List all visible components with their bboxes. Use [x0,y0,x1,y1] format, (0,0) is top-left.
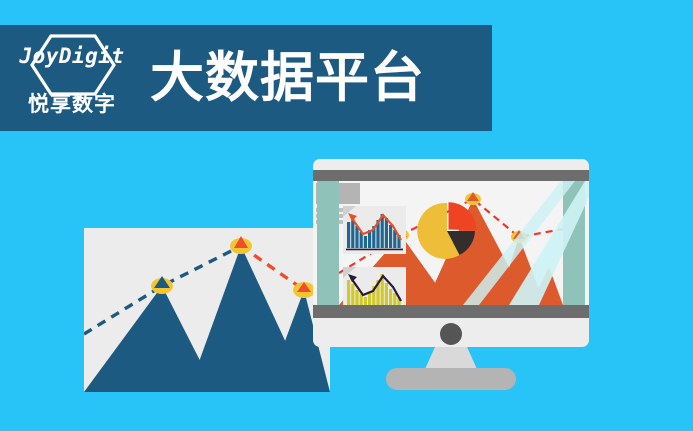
screen-side-band-right [563,181,585,305]
monitor-bottom-bezel [313,305,589,318]
desktop-monitor [313,159,589,347]
pie-chart [417,201,477,261]
blue-bar-chart-card [343,206,406,254]
brand-logo: JoyDigit 悦享数字 [12,32,132,124]
monitor-screen [313,181,589,305]
screen-side-band-left [317,181,339,305]
logo-subtitle: 悦享数字 [12,94,132,115]
page-title: 大数据平台 [150,51,425,105]
olive-bar-chart [343,267,406,305]
monitor-top-bezel [313,170,589,181]
trend-arrow-head [348,213,357,221]
blue-bar-chart [343,206,406,254]
power-button-icon[interactable] [440,323,462,345]
header-banner: JoyDigit 悦享数字 大数据平台 [0,25,492,131]
illustration-canvas: JoyDigit 悦享数字 大数据平台 [0,0,693,431]
logo-wordmark: JoyDigit [12,46,132,67]
pie-slice-b [449,202,477,230]
bar-series [347,214,401,248]
mountain-area-chart-panel [84,228,330,392]
blue-mountain-chart [84,228,330,392]
monitor-stand-base [386,368,516,390]
olive-bar-chart-card [343,267,406,305]
